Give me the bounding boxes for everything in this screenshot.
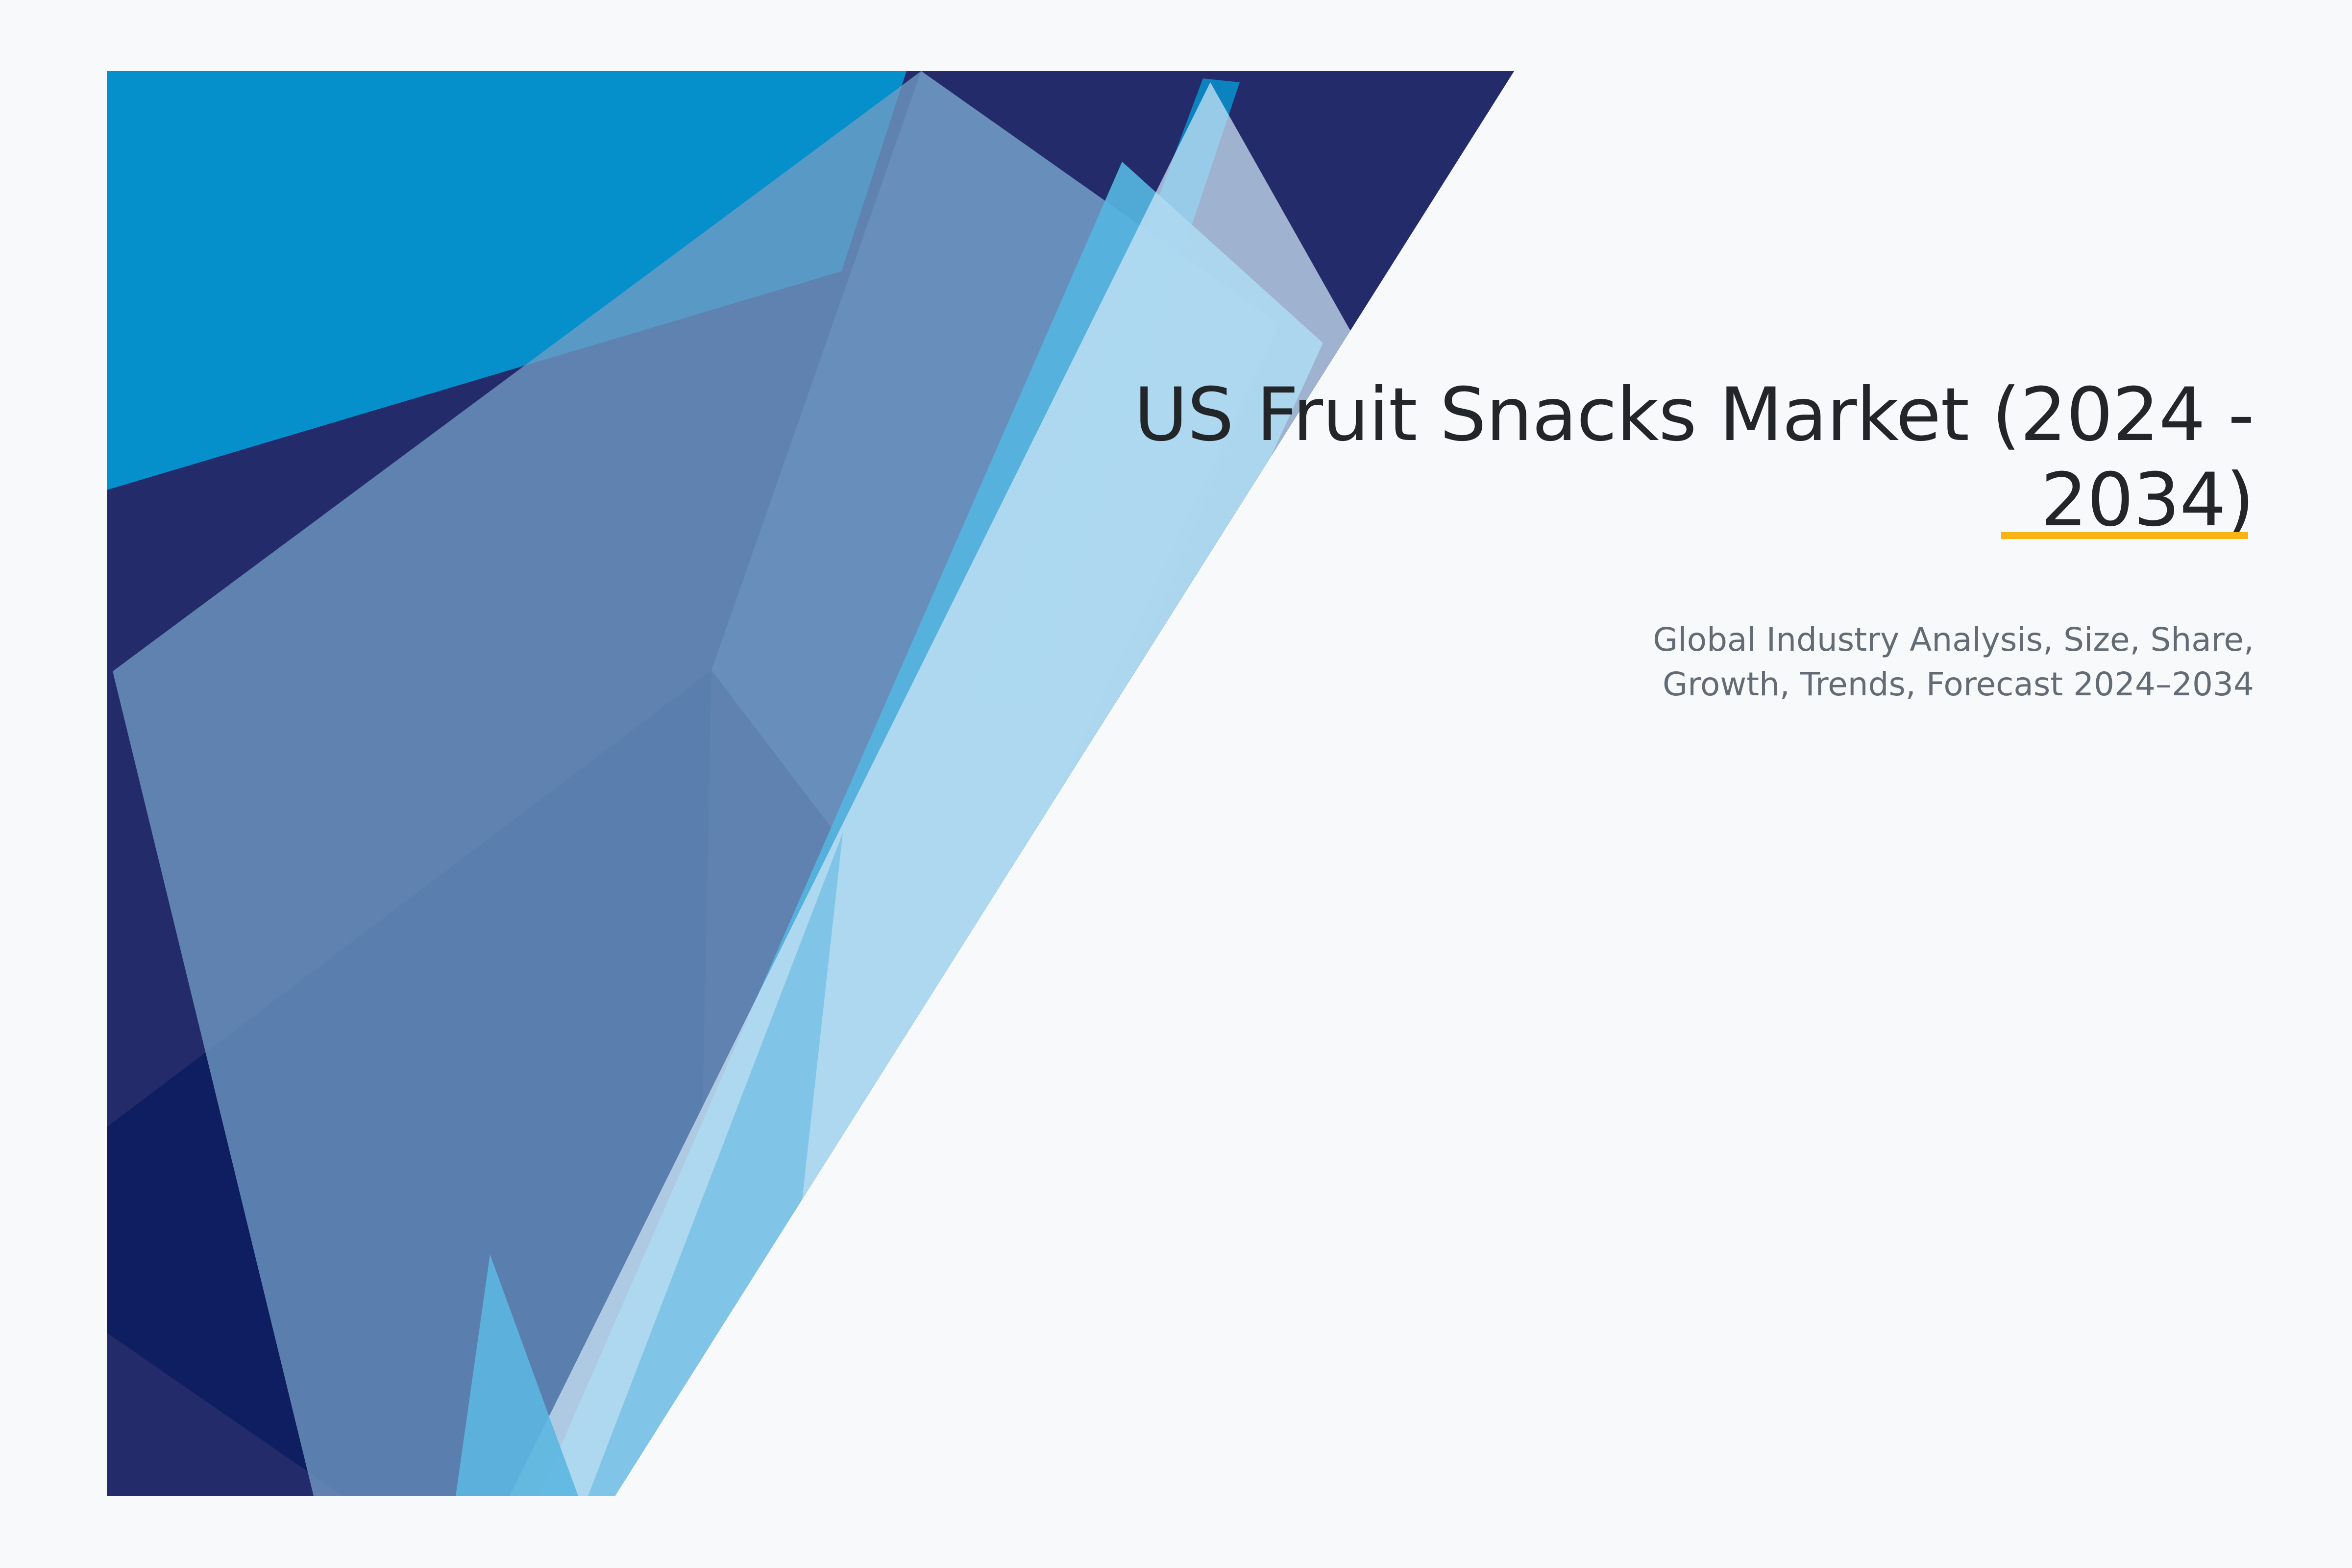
title-text-block: US Fruit Snacks Market (2024 - 2034) Glo… <box>1000 372 2254 707</box>
slide-canvas: US Fruit Snacks Market (2024 - 2034) Glo… <box>0 0 2352 1568</box>
page-subtitle: Global Industry Analysis, Size, Share, G… <box>1000 543 2254 707</box>
page-title: US Fruit Snacks Market (2024 - 2034) <box>1000 372 2254 543</box>
title-wrapper: US Fruit Snacks Market (2024 - 2034) <box>1000 372 2254 543</box>
title-underline-accent <box>2001 532 2248 539</box>
abstract-geometric-cover-graphic <box>0 0 2352 1568</box>
